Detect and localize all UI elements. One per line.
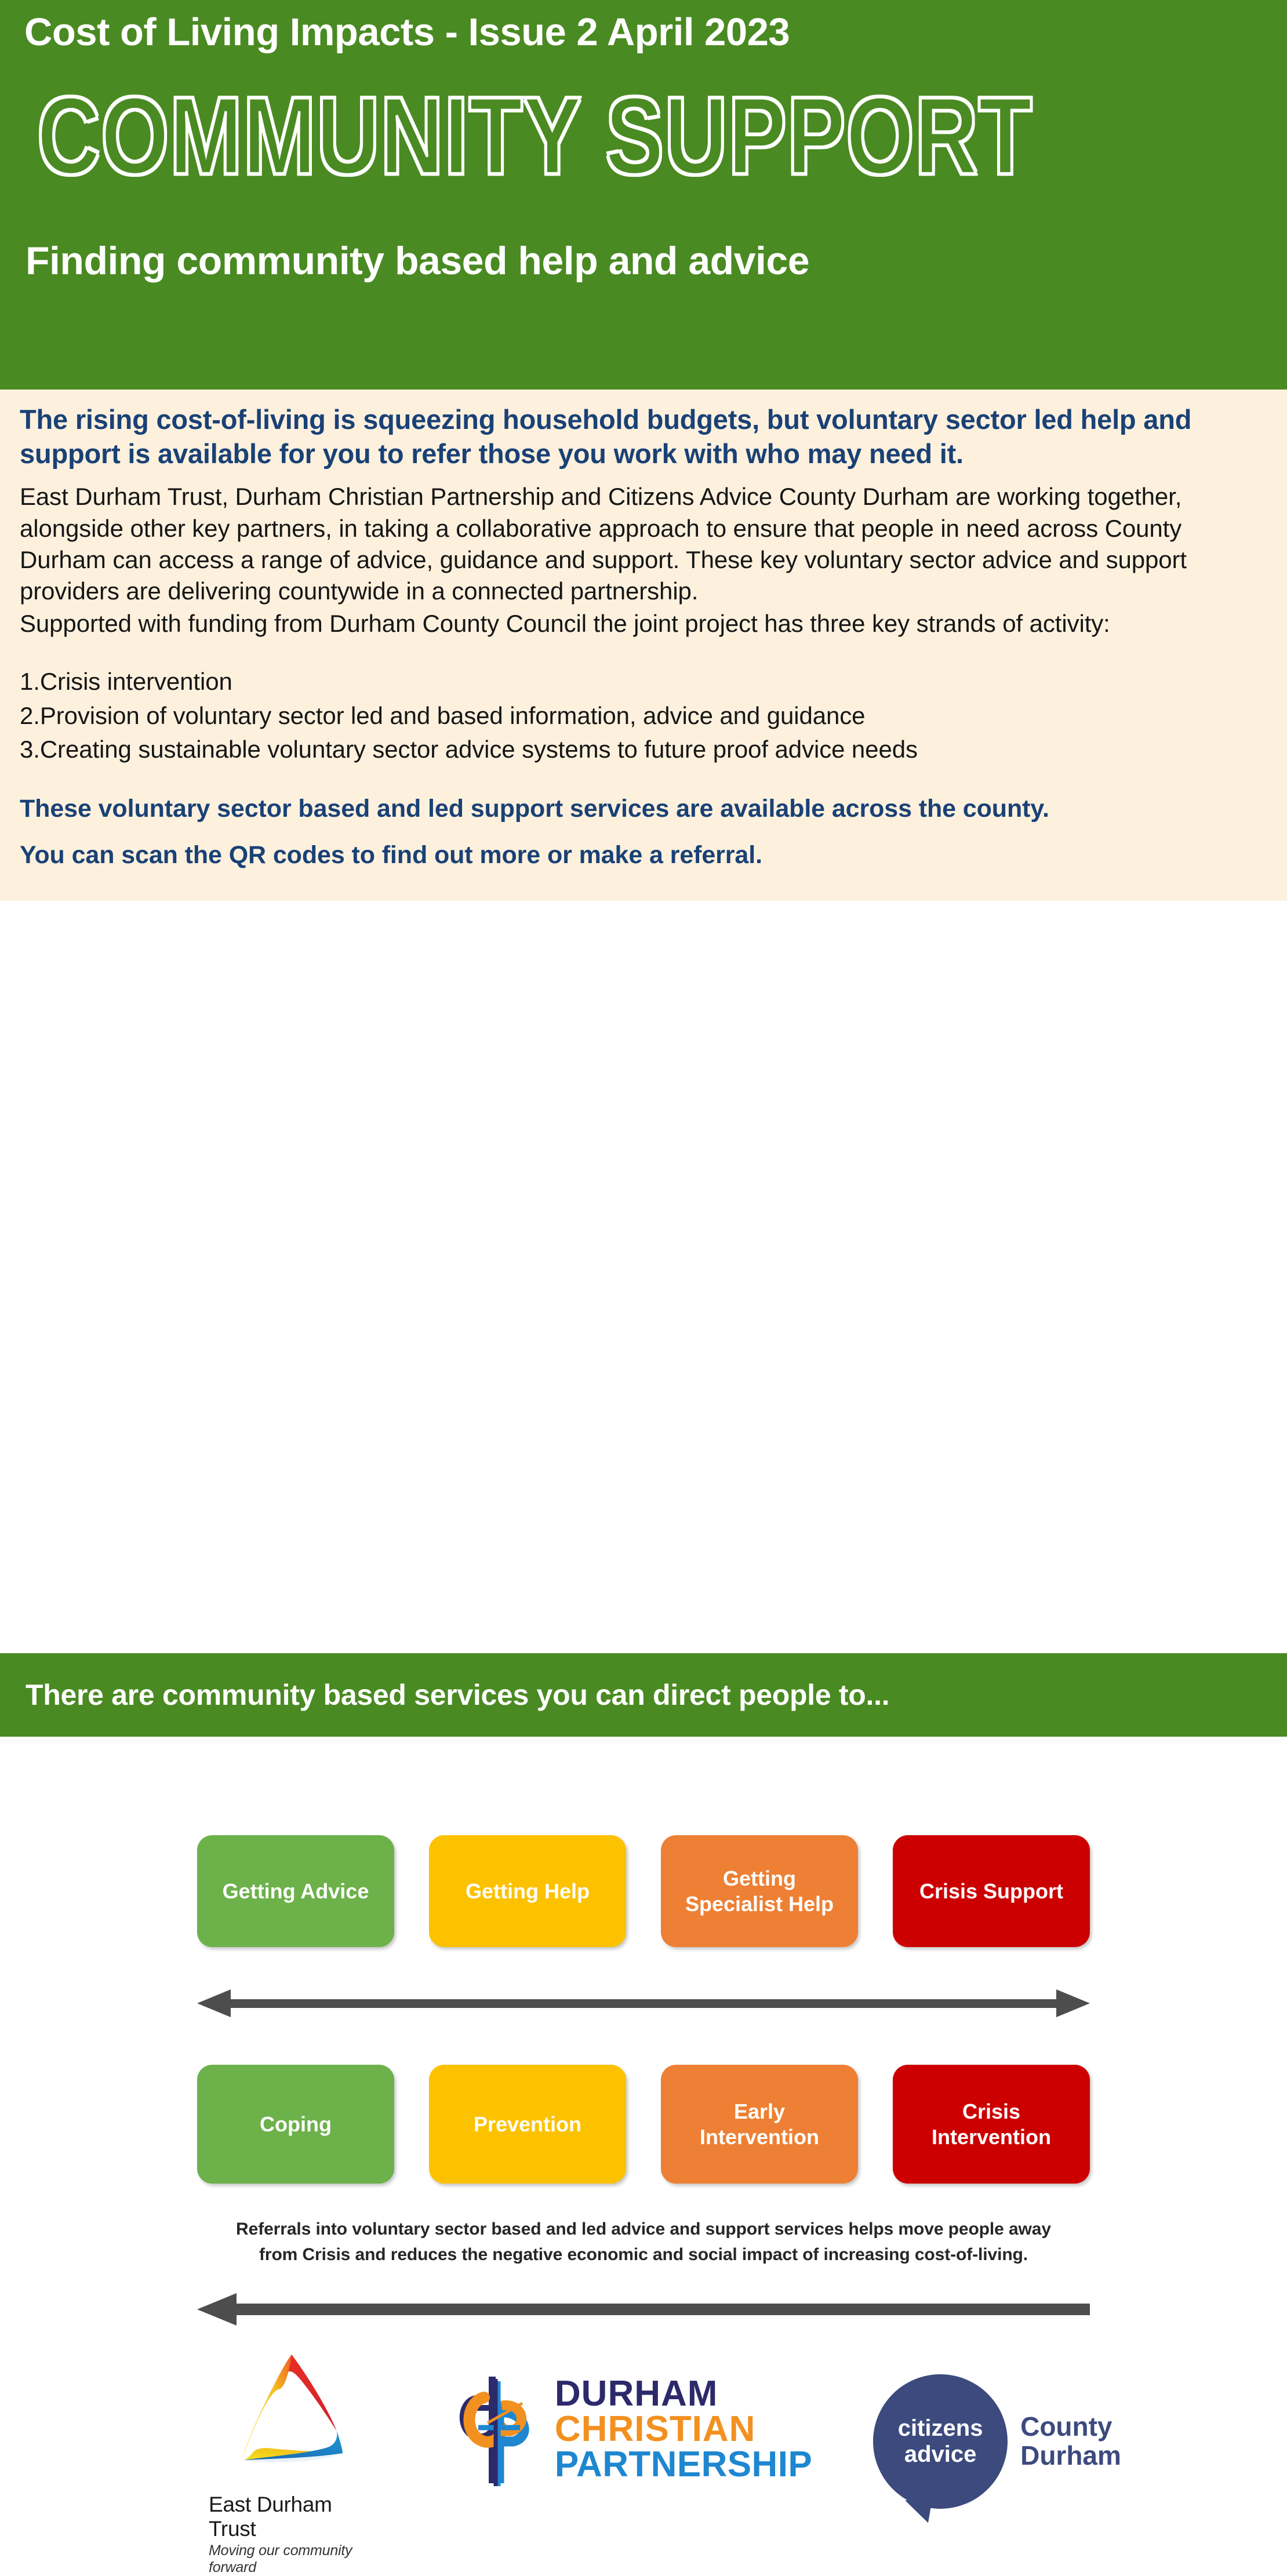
stage-box-getting-help: Getting Help: [429, 1835, 626, 1947]
citizens-advice-line-1: citizens: [898, 2415, 983, 2442]
banner-title: COMMUNITY SUPPORT: [37, 77, 1287, 191]
strands-list: 1.Crisis intervention 2.Provision of vol…: [20, 665, 1267, 766]
strand-item: 3.Creating sustainable voluntary sector …: [20, 733, 1267, 766]
stage-label: CrisisIntervention: [932, 2099, 1051, 2150]
logo-east-durham-trust: East Durham Trust Moving our community f…: [209, 2350, 383, 2576]
east-durham-trust-tagline: Moving our community forward: [209, 2542, 383, 2576]
caption-line-1: Referrals into voluntary sector based an…: [197, 2217, 1090, 2242]
partner-logos: East Durham Trust Moving our community f…: [0, 2350, 1287, 2541]
stage-box-crisis-intervention: CrisisIntervention: [893, 2065, 1090, 2184]
citizens-advice-lockup: citizens advice County Durham: [873, 2374, 1121, 2509]
left-arrow-connector: [197, 2292, 1090, 2327]
stage-box-coping: Coping: [197, 2065, 394, 2184]
support-pathway-diagram: Getting Advice Getting Help GettingSpeci…: [0, 901, 1287, 1653]
double-arrow-icon: [197, 1986, 1090, 2021]
stage-label: GettingSpecialist Help: [685, 1866, 834, 1917]
caption-line-2: from Crisis and reduces the negative eco…: [197, 2242, 1090, 2268]
citizens-advice-speech-bubble-icon: citizens advice: [873, 2374, 1008, 2509]
strand-item: 1.Crisis intervention: [20, 665, 1267, 698]
page-subtitle: Finding community based help and advice: [26, 239, 1266, 283]
strand-item: 2.Provision of voluntary sector led and …: [20, 699, 1267, 733]
dcp-line-christian: CHRISTIAN: [555, 2412, 812, 2447]
stage-label: Prevention: [474, 2112, 581, 2137]
stage-label: Crisis Support: [919, 1879, 1063, 1904]
citizens-advice-region: County Durham: [1020, 2413, 1121, 2470]
stage-label: Getting Advice: [223, 1879, 369, 1904]
east-durham-trust-name: East Durham Trust: [209, 2493, 383, 2541]
dcp-cross-monogram-icon: [457, 2367, 544, 2492]
stage-row-top: Getting Advice Getting Help GettingSpeci…: [197, 1835, 1090, 1947]
intro-paragraph-1: East Durham Trust, Durham Christian Part…: [20, 481, 1267, 607]
page-header: Cost of Living Impacts - Issue 2 April 2…: [0, 0, 1287, 390]
lead-statement: The rising cost-of-living is squeezing h…: [20, 402, 1267, 471]
stage-box-prevention: Prevention: [429, 2065, 626, 2184]
closing-statement-2: You can scan the QR codes to find out mo…: [20, 839, 1267, 872]
arrow-left-icon: [197, 2292, 1090, 2327]
east-durham-trust-triangle-icon: [229, 2350, 362, 2489]
intro-panel: The rising cost-of-living is squeezing h…: [0, 390, 1287, 901]
stage-row-bottom: Coping Prevention EarlyIntervention Cris…: [197, 2065, 1090, 2184]
stage-box-getting-specialist-help: GettingSpecialist Help: [661, 1835, 858, 1947]
logo-durham-christian-partnership: DURHAM CHRISTIAN PARTNERSHIP: [472, 2350, 797, 2492]
closing-statement-1: These voluntary sector based and led sup…: [20, 793, 1267, 825]
page-footer: There are community based services you c…: [0, 1653, 1287, 1737]
issue-title: Cost of Living Impacts - Issue 2 April 2…: [24, 10, 1266, 54]
stage-label: Coping: [260, 2112, 332, 2137]
citizens-advice-durham: Durham: [1020, 2442, 1121, 2471]
logo-citizens-advice-county-durham: citizens advice County Durham: [861, 2350, 1133, 2509]
citizens-advice-line-2: advice: [904, 2442, 977, 2468]
dcp-line-durham: DURHAM: [555, 2377, 812, 2412]
double-arrow-connector: [197, 1986, 1090, 2021]
footer-text: There are community based services you c…: [26, 1678, 889, 1712]
citizens-advice-county: County: [1020, 2413, 1121, 2442]
dcp-line-partnership: PARTNERSHIP: [555, 2447, 812, 2483]
intro-paragraph-2: Supported with funding from Durham Count…: [20, 608, 1267, 639]
banner-title-text: COMMUNITY SUPPORT: [37, 75, 1032, 197]
dcp-lockup: DURHAM CHRISTIAN PARTNERSHIP: [457, 2367, 812, 2492]
stage-label: Getting Help: [466, 1879, 590, 1904]
stage-label: EarlyIntervention: [700, 2099, 819, 2150]
diagram-caption: Referrals into voluntary sector based an…: [197, 2217, 1090, 2267]
stage-box-crisis-support: Crisis Support: [893, 1835, 1090, 1947]
dcp-wordmark: DURHAM CHRISTIAN PARTNERSHIP: [555, 2377, 812, 2482]
stage-box-early-intervention: EarlyIntervention: [661, 2065, 858, 2184]
stage-box-getting-advice: Getting Advice: [197, 1835, 394, 1947]
